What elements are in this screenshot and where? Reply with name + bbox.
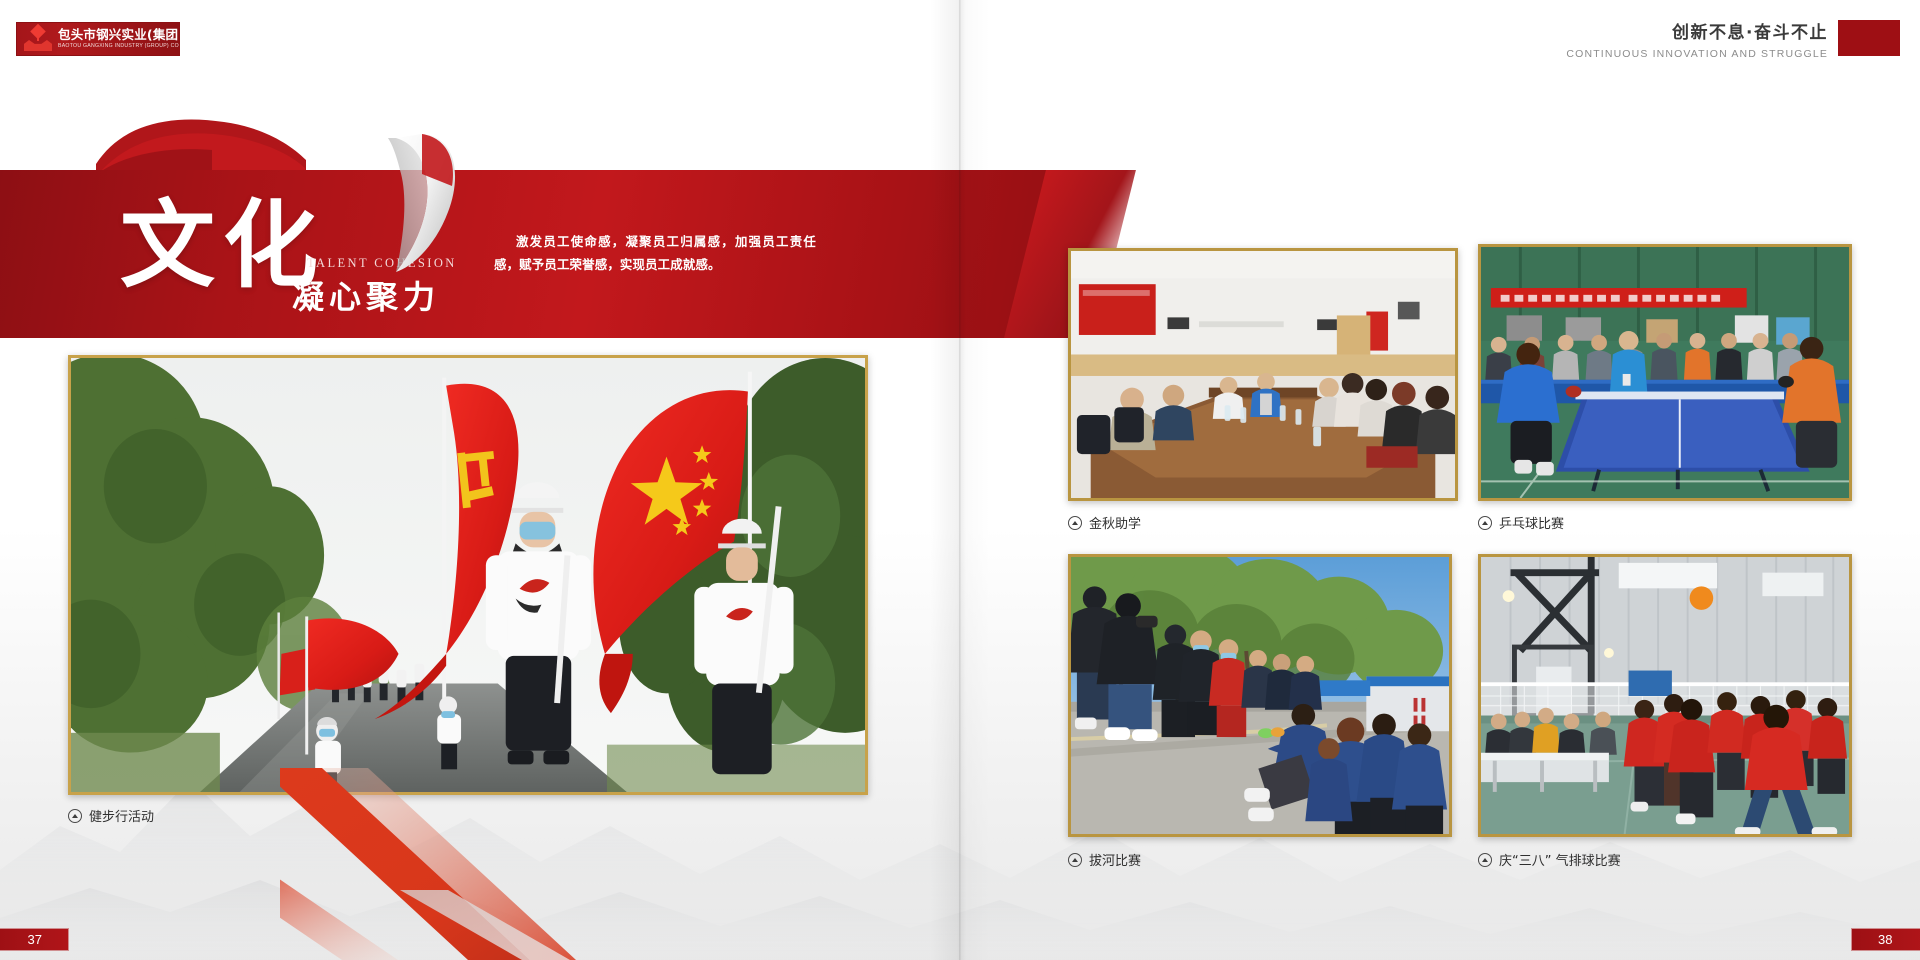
caption-marker-icon: [1068, 853, 1082, 867]
caption-text: 庆“三八” 气排球比赛: [1499, 850, 1621, 869]
page-number-right-value: 38: [1878, 932, 1892, 947]
slogan-en: CONTINUOUS INNOVATION AND STRUGGLE: [1566, 48, 1828, 60]
company-name-en: BAOTOU GANGXING INDUSTRY (GROUP) CO., LT…: [58, 44, 180, 49]
caption-text: 健步行活动: [89, 806, 154, 825]
caption-pingpong: 乒乓球比赛: [1478, 513, 1564, 532]
gangxing-diamond-mark-icon: [23, 24, 53, 54]
company-name-cn: 包头市钢兴实业(集团)有限公司: [58, 29, 180, 42]
caption-marker-icon: [1478, 853, 1492, 867]
caption-hero-walk: 健步行活动: [68, 806, 154, 825]
caption-volleyball: 庆“三八” 气排球比赛: [1478, 850, 1621, 869]
caption-marker-icon: [1068, 516, 1082, 530]
caption-text: 拔河比赛: [1089, 850, 1141, 869]
photo-tug-of-war: [1068, 554, 1452, 837]
caption-text: 金秋助学: [1089, 513, 1141, 532]
magazine-spread: 包头市钢兴实业(集团)有限公司 BAOTOU GANGXING INDUSTRY…: [0, 0, 1920, 960]
page-number-left-value: 37: [28, 932, 42, 947]
slogan-cn: 创新不息·奋斗不止: [1566, 18, 1828, 43]
company-logo: 包头市钢兴实业(集团)有限公司 BAOTOU GANGXING INDUSTRY…: [16, 22, 180, 56]
header-slogan: 创新不息·奋斗不止 CONTINUOUS INNOVATION AND STRU…: [1566, 18, 1828, 60]
photo-hero-walk: [68, 355, 868, 795]
page-number-left: 37: [0, 928, 69, 951]
photo-scholarship: [1068, 248, 1458, 501]
page-number-right: 38: [1851, 928, 1920, 951]
caption-marker-icon: [68, 809, 82, 823]
header-accent-block: [1838, 20, 1900, 56]
banner-title-en: TALENT COHESION: [307, 256, 457, 271]
banner-paragraph: 激发员工使命感，凝聚员工归属感，加强员工责任感，赋予员工荣誉感，实现员工成就感。: [494, 231, 816, 277]
photo-pingpong: [1478, 244, 1852, 501]
banner-subtitle-cn: 凝心聚力: [292, 272, 440, 318]
caption-tug-of-war: 拔河比赛: [1068, 850, 1141, 869]
spread-gutter-line: [959, 0, 961, 960]
caption-scholarship: 金秋助学: [1068, 513, 1141, 532]
caption-marker-icon: [1478, 516, 1492, 530]
caption-text: 乒乓球比赛: [1499, 513, 1564, 532]
photo-volleyball: [1478, 554, 1852, 837]
